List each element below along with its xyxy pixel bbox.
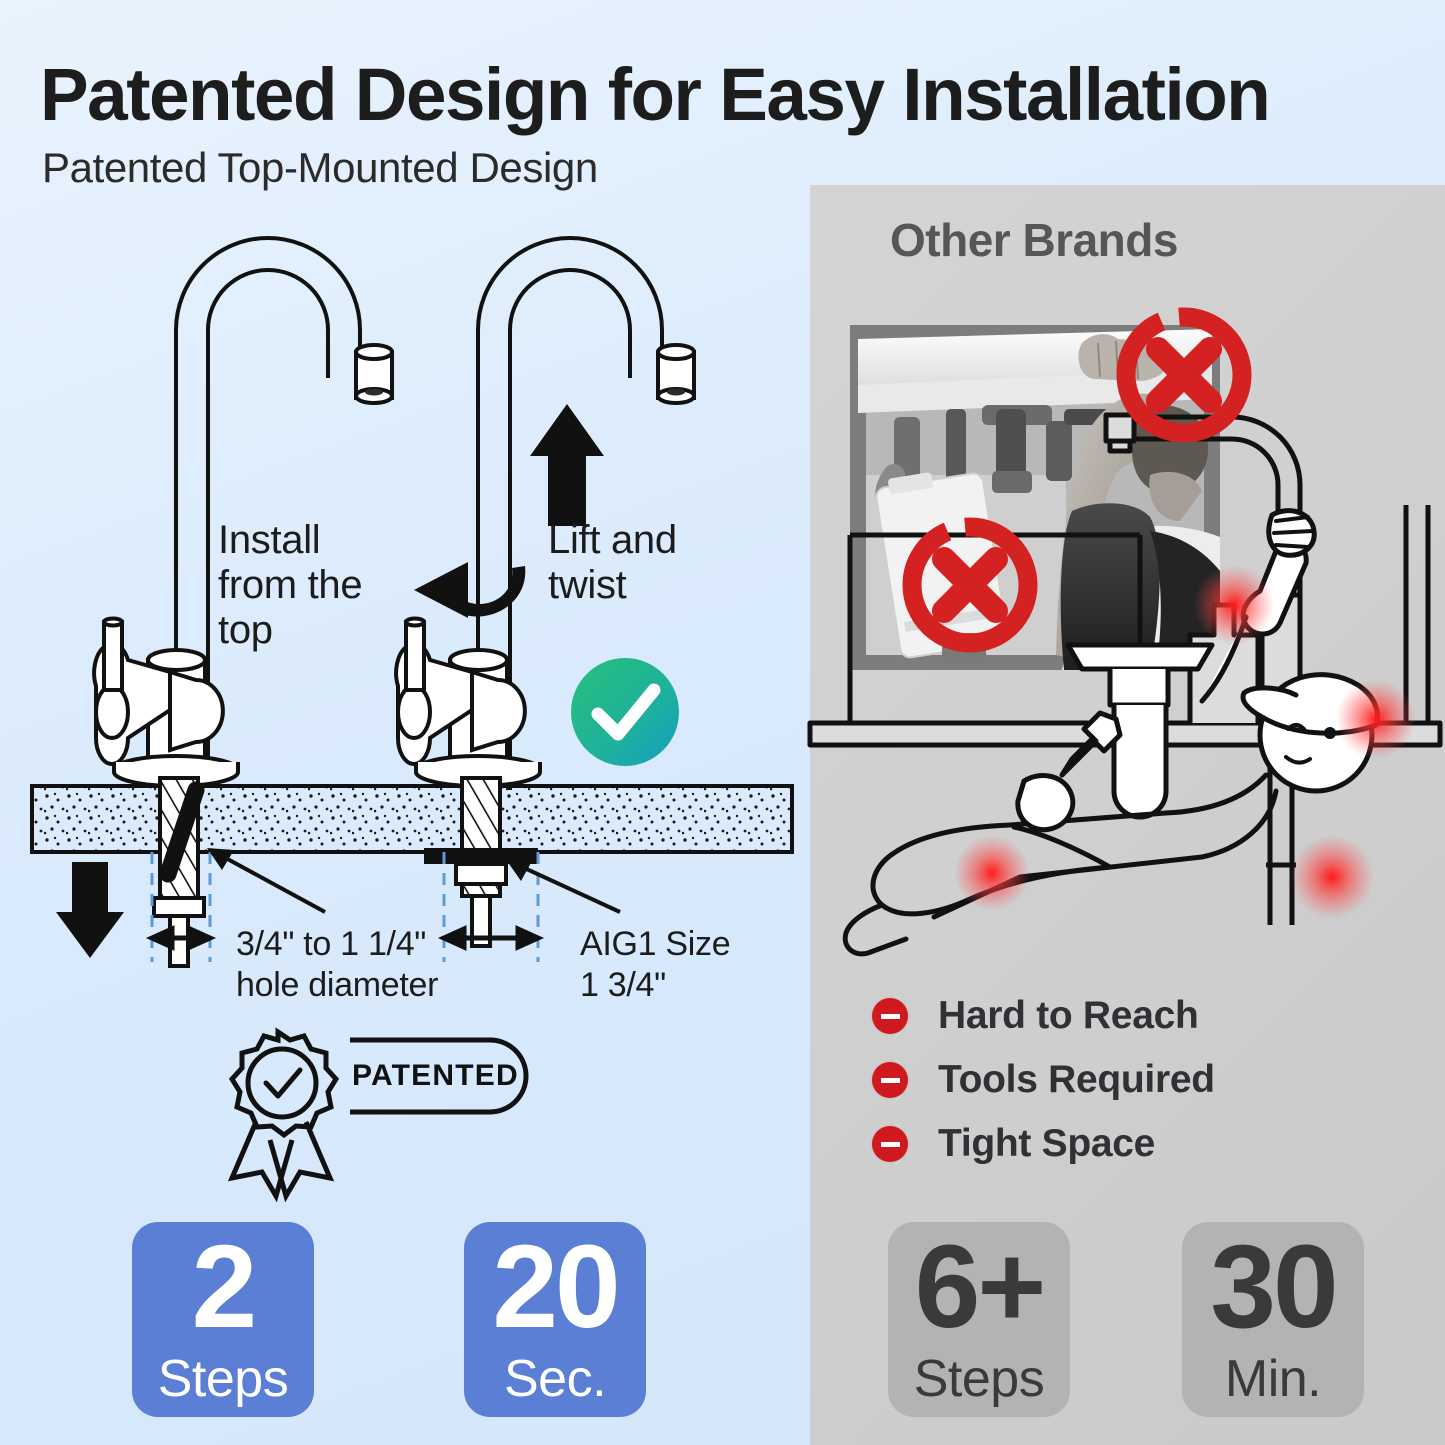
push-down-arrow (56, 862, 124, 958)
stat-box-minutes-other: 30 Min. (1182, 1222, 1364, 1417)
stat-number: 6+ (888, 1228, 1070, 1346)
stat-box-seconds: 20 Sec. (464, 1222, 646, 1417)
stat-label: Min. (1182, 1353, 1364, 1405)
faucet-left-graphic (94, 238, 392, 790)
red-x-stamp-lower (912, 527, 1028, 643)
lift-up-arrow (530, 404, 604, 526)
hole-diameter-label: 3/4" to 1 1/4"hole diameter (236, 924, 516, 1006)
faucet-left-shank (154, 778, 204, 966)
patented-badge-label: PATENTED (352, 1059, 519, 1093)
faucet-right-graphic (396, 238, 694, 790)
other-brands-panel: Other Brands (810, 185, 1445, 1445)
stat-box-steps: 2 Steps (132, 1222, 314, 1417)
stat-number: 20 (464, 1228, 646, 1346)
minus-circle-icon (872, 998, 908, 1034)
countertop-cross-section (32, 786, 792, 852)
install-from-top-label: Installfrom thetop (218, 518, 418, 654)
faucet-right-shank (424, 778, 538, 946)
list-item: Tools Required (872, 1049, 1412, 1111)
stat-label: Steps (888, 1353, 1070, 1405)
list-item: Hard to Reach (872, 985, 1412, 1047)
stat-box-steps-other: 6+ Steps (888, 1222, 1070, 1417)
callout-arrows (207, 848, 620, 912)
stat-label: Steps (132, 1353, 314, 1405)
page-subtitle: Patented Top-Mounted Design (42, 144, 598, 192)
drawback-label: Tools Required (938, 1058, 1215, 1102)
minus-circle-icon (872, 1062, 908, 1098)
page-title: Patented Design for Easy Installation (40, 58, 1399, 132)
list-item: Tight Space (872, 1113, 1412, 1175)
drawback-label: Tight Space (938, 1122, 1155, 1166)
stat-number: 2 (132, 1228, 314, 1346)
stat-label: Sec. (464, 1353, 646, 1405)
infographic-root: Patented Design for Easy Installation Pa… (0, 0, 1445, 1445)
drawback-label: Hard to Reach (938, 994, 1199, 1038)
minus-circle-icon (872, 1126, 908, 1162)
drawbacks-list: Hard to Reach Tools Required Tight Space (872, 985, 1412, 1177)
check-circle-icon (571, 658, 679, 766)
lift-and-twist-label: Lift andtwist (548, 518, 748, 608)
patented-rosette-icon (232, 1032, 526, 1196)
thread-size-label: AIG1 Size1 3/4" (580, 924, 830, 1006)
other-brands-title: Other Brands (890, 213, 1178, 267)
stat-number: 30 (1182, 1228, 1364, 1346)
twist-arrow (414, 562, 525, 618)
